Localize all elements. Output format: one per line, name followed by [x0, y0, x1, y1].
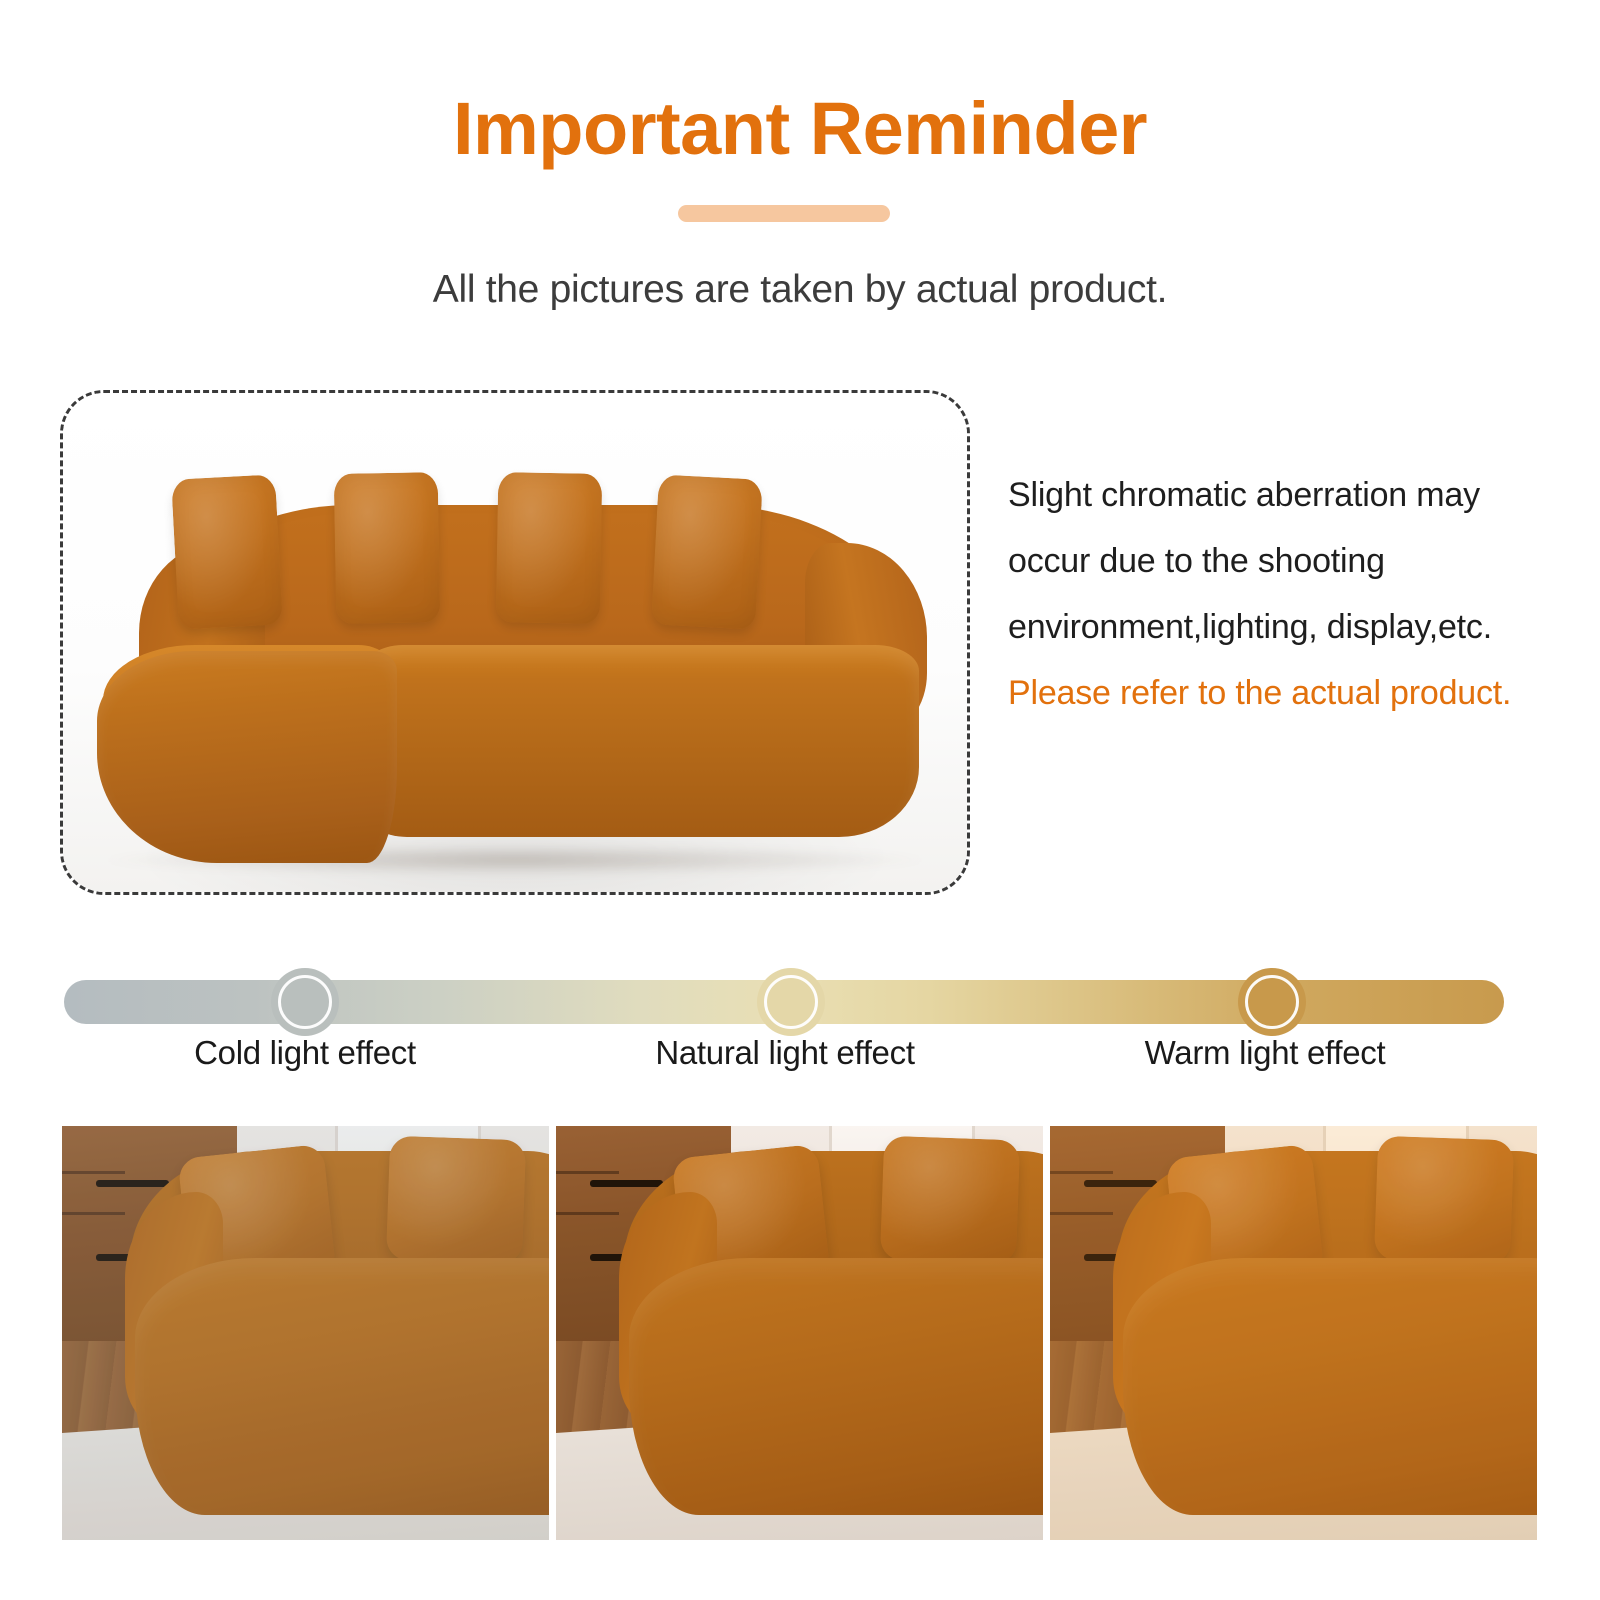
slider-label-row: Cold light effect Natural light effect W…: [0, 1034, 1600, 1090]
cabinet-handle-1: [590, 1180, 663, 1187]
page-subtitle: All the pictures are taken by actual pro…: [0, 268, 1600, 312]
cabinet-handle-1: [96, 1180, 169, 1187]
slider-label-warm: Warm light effect: [1045, 1034, 1485, 1072]
sofa-pillow-3: [496, 472, 603, 624]
slider-label-natural: Natural light effect: [565, 1034, 1005, 1072]
photo-natural-light[interactable]: [556, 1126, 1043, 1540]
scene-warm: [1050, 1126, 1537, 1540]
scene-sofa-body: [1123, 1258, 1537, 1515]
scene-pillow-right: [880, 1136, 1021, 1265]
hero-product-card: [60, 390, 970, 895]
cabinet-handle-1: [1084, 1180, 1157, 1187]
scene-sofa-body: [629, 1258, 1043, 1515]
lighting-comparison-photo-row: [0, 1126, 1600, 1540]
scene-cold: [62, 1126, 549, 1540]
sofa-pillow-1: [171, 474, 283, 629]
slider-knob-cold[interactable]: [271, 968, 339, 1036]
photo-cold-light[interactable]: [62, 1126, 549, 1540]
scene-pillow-right: [1374, 1136, 1515, 1265]
chromatic-aberration-notice: Slight chromatic aberration may occur du…: [1008, 462, 1528, 726]
notice-body-text: Slight chromatic aberration may occur du…: [1008, 476, 1492, 646]
cabinet-seam-1: [1050, 1171, 1113, 1174]
cabinet-seam-1: [556, 1171, 619, 1174]
scene-sofa-body: [135, 1258, 549, 1515]
sofa-chaise-base: [97, 651, 397, 863]
photo-warm-light[interactable]: [1050, 1126, 1537, 1540]
hero-product-photo: [63, 393, 967, 892]
title-underline-bar: [678, 205, 890, 222]
sofa-illustration: [63, 393, 970, 895]
sofa-pillow-4: [651, 474, 763, 629]
sofa-pillow-2: [334, 472, 441, 624]
cabinet-seam-1: [62, 1171, 125, 1174]
cabinet-seam-2: [556, 1212, 619, 1215]
page-title: Important Reminder: [0, 92, 1600, 166]
notice-highlight-text: Please refer to the actual product.: [1008, 674, 1511, 712]
scene-natural: [556, 1126, 1043, 1540]
slider-knob-natural[interactable]: [757, 968, 825, 1036]
scene-pillow-right: [386, 1136, 527, 1265]
slider-knob-warm[interactable]: [1238, 968, 1306, 1036]
sofa-seat-cushion: [363, 645, 919, 837]
cabinet-seam-2: [62, 1212, 125, 1215]
slider-label-cold: Cold light effect: [85, 1034, 525, 1072]
cabinet-seam-2: [1050, 1212, 1113, 1215]
